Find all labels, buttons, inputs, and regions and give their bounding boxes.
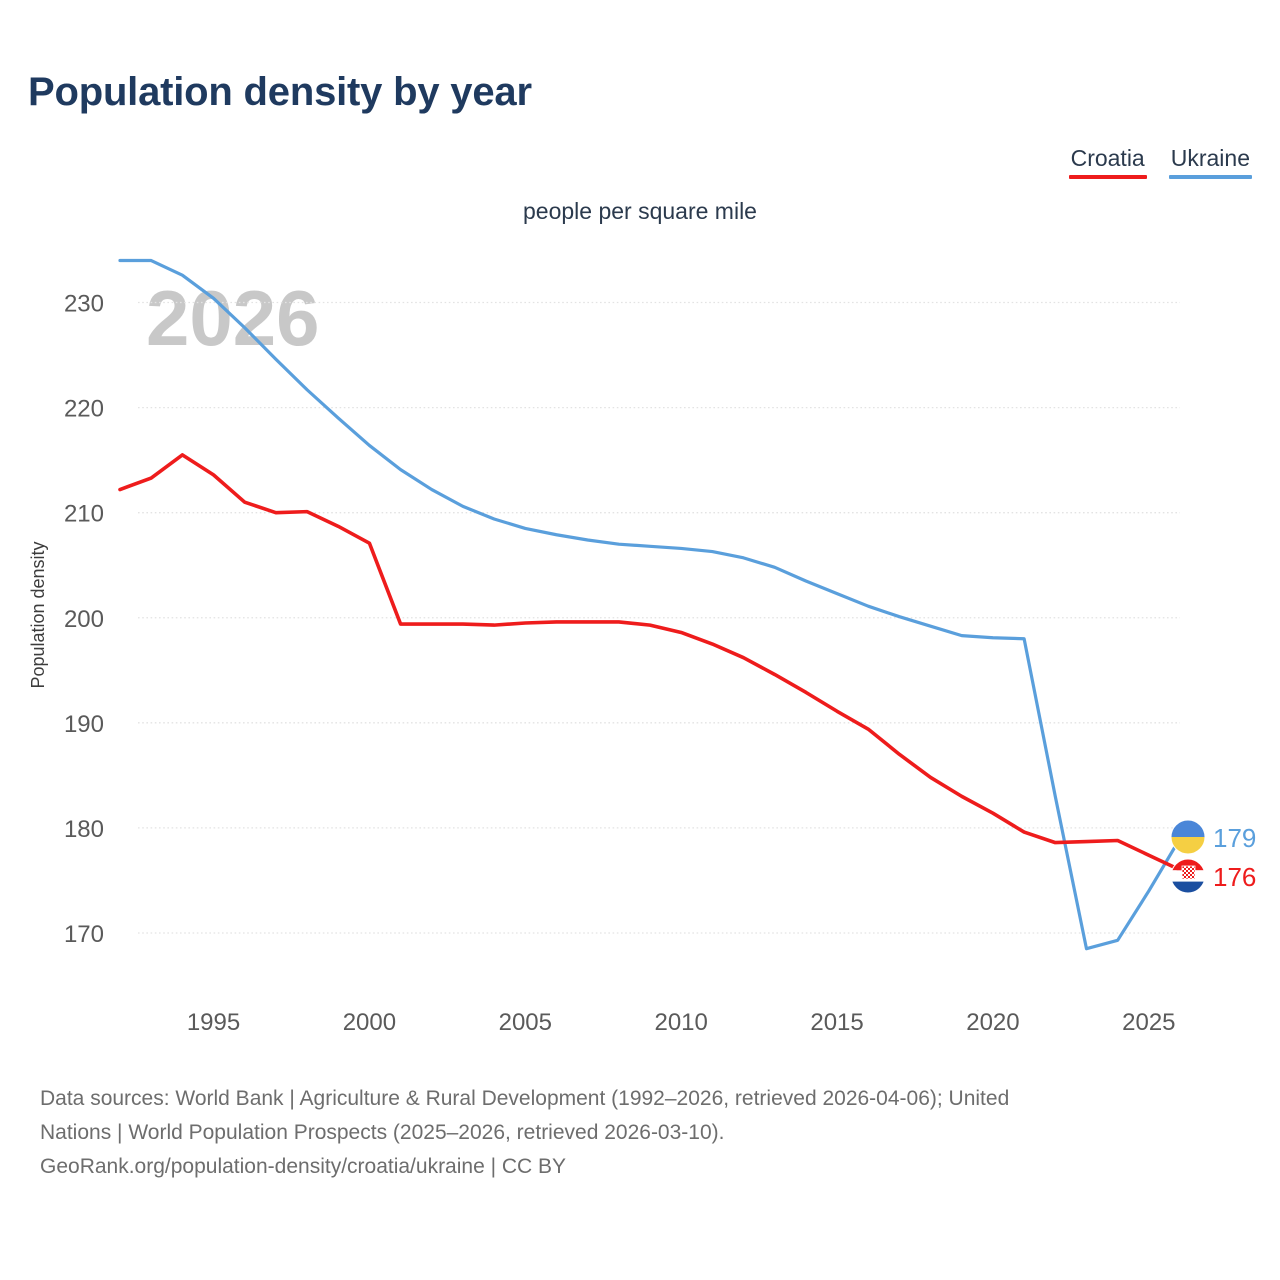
gridlines: [138, 303, 1180, 933]
y-tick-label: 190: [64, 711, 104, 738]
croatia-flag-icon[interactable]: [1171, 859, 1205, 893]
y-axis-title: Population density: [28, 541, 48, 688]
x-tick-label: 2010: [654, 1009, 707, 1036]
y-tick-label: 180: [64, 816, 104, 843]
footer-line-3: GeoRank.org/population-density/croatia/u…: [40, 1150, 1260, 1184]
chart-page: Population density by year Croatia Ukrai…: [0, 0, 1280, 1280]
x-tick-label: 2020: [966, 1009, 1019, 1036]
y-tick-label: 220: [64, 396, 104, 423]
footer-line-1: Data sources: World Bank | Agriculture &…: [40, 1082, 1260, 1116]
line-chart-svg: 2026 230220210200190180170 1995200020052…: [0, 0, 1280, 1060]
footer-line-2: Nations | World Population Prospects (20…: [40, 1116, 1260, 1150]
end-value-croatia: 176: [1213, 862, 1256, 892]
y-tick-label: 200: [64, 606, 104, 633]
x-axis-ticks: 1995200020052010201520202025: [187, 1009, 1176, 1036]
plot-area: 2026 230220210200190180170 1995200020052…: [0, 0, 1280, 1060]
x-tick-label: 1995: [187, 1009, 240, 1036]
series-line-croatia[interactable]: [120, 455, 1180, 870]
x-tick-label: 2015: [810, 1009, 863, 1036]
x-tick-label: 2000: [343, 1009, 396, 1036]
x-tick-label: 2005: [499, 1009, 552, 1036]
y-axis-ticks: 230220210200190180170: [64, 291, 104, 948]
y-tick-label: 230: [64, 291, 104, 318]
y-tick-label: 210: [64, 501, 104, 528]
end-value-ukraine: 179: [1213, 823, 1256, 853]
y-tick-label: 170: [64, 921, 104, 948]
ukraine-flag-icon[interactable]: [1171, 820, 1205, 854]
x-tick-label: 2025: [1122, 1009, 1175, 1036]
footer-sources: Data sources: World Bank | Agriculture &…: [40, 1082, 1260, 1184]
series-line-ukraine[interactable]: [120, 261, 1180, 949]
